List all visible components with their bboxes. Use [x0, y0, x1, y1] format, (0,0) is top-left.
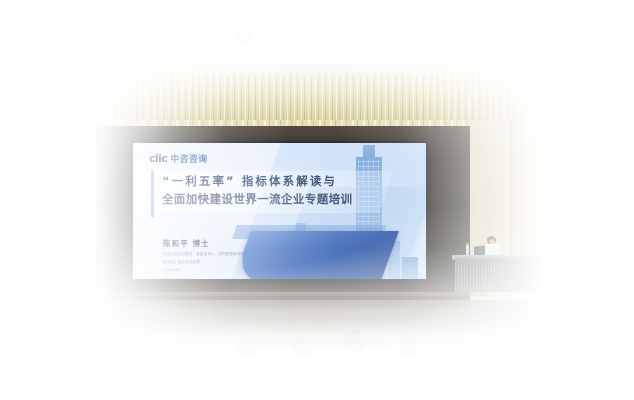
curtain-tieback	[548, 232, 556, 250]
audience-person	[548, 338, 594, 400]
logo-wordmark: clic	[149, 152, 167, 165]
stage-light-rig-icon	[180, 20, 196, 40]
slide-title-line-2: 全面加快建设世界一流企业专题培训	[162, 191, 414, 207]
audience-person	[224, 334, 270, 400]
audience-person	[66, 338, 110, 400]
audience-person	[386, 334, 432, 400]
audience-group	[0, 268, 634, 400]
conference-photo-scene: clic 中咨咨询 “一利五率” 指标体系解读与 全面加快建设世界一流企业专题培…	[0, 0, 634, 400]
speaker-name: 陈和平 博士	[163, 238, 244, 249]
logo-chinese-name: 中咨咨询	[170, 152, 207, 165]
slide-title: “一利五率” 指标体系解读与 全面加快建设世界一流企业专题培训	[162, 174, 414, 207]
brand-logo: clic 中咨咨询	[149, 152, 207, 165]
projection-screen-frame: clic 中咨咨询 “一利五率” 指标体系解读与 全面加快建设世界一流企业专题培…	[131, 141, 428, 281]
ceiling-light-icon	[500, 26, 534, 37]
audience-person	[114, 334, 160, 400]
audience-person	[440, 332, 488, 400]
slide-title-line-1: “一利五率” 指标体系解读与	[162, 174, 414, 189]
presentation-slide: clic 中咨咨询 “一利五率” 指标体系解读与 全面加快建设世界一流企业专题培…	[133, 143, 426, 279]
audience-person	[278, 336, 324, 400]
ceiling	[0, 0, 634, 64]
speaker-subtitle-line-1: 中咨公司业务委员、高级咨询人、研究院首席专家	[163, 252, 244, 257]
title-accent-bar	[151, 173, 154, 217]
stage-light-rig-icon	[235, 24, 251, 44]
audience-person	[330, 330, 378, 400]
speaker-subtitle-line-2: 咨询化工事业部总经理	[163, 260, 244, 265]
stage-light-rig-icon	[360, 18, 376, 38]
audience-person	[496, 336, 542, 400]
audience-person	[168, 330, 216, 400]
audience-person	[22, 342, 66, 400]
stage-light-rig-icon	[470, 22, 486, 42]
ceiling-beam	[110, 38, 530, 48]
